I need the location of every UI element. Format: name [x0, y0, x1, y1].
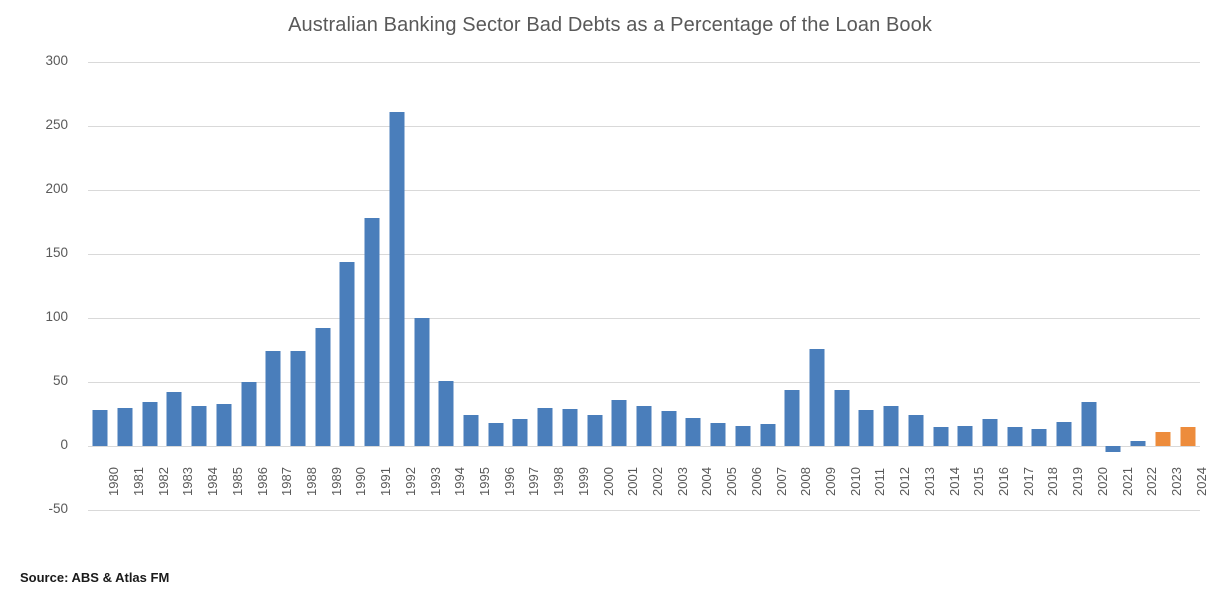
x-tick-label-2021: 2021 [1120, 452, 1135, 496]
bar-1998[interactable] [538, 408, 553, 446]
bar-slot [632, 62, 657, 510]
x-tick-label-2009: 2009 [823, 452, 838, 496]
bar-1993[interactable] [414, 318, 429, 446]
bar-2023[interactable] [1155, 432, 1170, 446]
bar-slot [1175, 62, 1200, 510]
bar-1983[interactable] [167, 392, 182, 446]
x-tick-label-1987: 1987 [279, 452, 294, 496]
bar-2018[interactable] [1032, 429, 1047, 446]
bar-slot [1126, 62, 1151, 510]
x-tick-label-1991: 1991 [378, 452, 393, 496]
gridline--50 [88, 510, 1200, 511]
x-tick-label-1993: 1993 [428, 452, 443, 496]
chart-root: Australian Banking Sector Bad Debts as a… [0, 0, 1220, 596]
y-tick-label-300: 300 [8, 53, 68, 68]
bar-2002[interactable] [636, 406, 651, 446]
bar-2006[interactable] [735, 426, 750, 446]
x-tick-label-2012: 2012 [897, 452, 912, 496]
bar-slot [409, 62, 434, 510]
bar-slot [854, 62, 879, 510]
bar-2019[interactable] [1057, 422, 1072, 446]
x-tick-label-2013: 2013 [922, 452, 937, 496]
x-tick-label-2008: 2008 [798, 452, 813, 496]
y-tick-label--50: -50 [8, 501, 68, 516]
x-tick-label-2005: 2005 [724, 452, 739, 496]
bar-slot [335, 62, 360, 510]
chart-title: Australian Banking Sector Bad Debts as a… [0, 14, 1220, 37]
bar-2001[interactable] [612, 400, 627, 446]
x-tick-label-2015: 2015 [971, 452, 986, 496]
bar-slot [780, 62, 805, 510]
bar-2012[interactable] [884, 406, 899, 446]
x-tick-label-1990: 1990 [353, 452, 368, 496]
bar-slot [212, 62, 237, 510]
x-tick-label-2022: 2022 [1144, 452, 1159, 496]
bar-slot [829, 62, 854, 510]
bar-slot [187, 62, 212, 510]
x-tick-label-1996: 1996 [502, 452, 517, 496]
bar-slot [978, 62, 1003, 510]
x-tick-label-2001: 2001 [625, 452, 640, 496]
x-tick-label-2020: 2020 [1095, 452, 1110, 496]
bar-1996[interactable] [488, 423, 503, 446]
x-tick-label-1999: 1999 [576, 452, 591, 496]
bar-slot [360, 62, 385, 510]
y-tick-label-50: 50 [8, 373, 68, 388]
y-tick-label-0: 0 [8, 437, 68, 452]
y-tick-label-100: 100 [8, 309, 68, 324]
bar-2024[interactable] [1180, 427, 1195, 446]
bar-slot [1052, 62, 1077, 510]
x-tick-label-2011: 2011 [872, 452, 887, 496]
bar-2013[interactable] [908, 415, 923, 446]
bar-slot [607, 62, 632, 510]
bar-slot [137, 62, 162, 510]
bar-2007[interactable] [760, 424, 775, 446]
bar-2016[interactable] [982, 419, 997, 446]
bar-2017[interactable] [1007, 427, 1022, 446]
x-tick-label-2014: 2014 [947, 452, 962, 496]
bar-slot [1101, 62, 1126, 510]
bar-2003[interactable] [661, 411, 676, 446]
bar-slot [582, 62, 607, 510]
bar-2015[interactable] [958, 426, 973, 446]
x-tick-label-2002: 2002 [650, 452, 665, 496]
bar-2010[interactable] [834, 390, 849, 446]
x-tick-label-2017: 2017 [1021, 452, 1036, 496]
bar-slot [656, 62, 681, 510]
bar-1980[interactable] [93, 410, 108, 446]
bar-2014[interactable] [933, 427, 948, 446]
x-tick-label-2016: 2016 [996, 452, 1011, 496]
bar-slot [88, 62, 113, 510]
x-tick-label-1980: 1980 [106, 452, 121, 496]
y-tick-label-150: 150 [8, 245, 68, 260]
bar-slot [483, 62, 508, 510]
bar-slot [681, 62, 706, 510]
bar-1986[interactable] [241, 382, 256, 446]
bar-slot [755, 62, 780, 510]
x-tick-label-1997: 1997 [526, 452, 541, 496]
bar-slot [1151, 62, 1176, 510]
bar-slot [903, 62, 928, 510]
x-tick-label-2006: 2006 [749, 452, 764, 496]
bar-slot [1027, 62, 1052, 510]
bar-slot [310, 62, 335, 510]
bar-2022[interactable] [1131, 441, 1146, 446]
bar-1985[interactable] [216, 404, 231, 446]
x-tick-label-2010: 2010 [848, 452, 863, 496]
bar-slot [1002, 62, 1027, 510]
bar-1992[interactable] [389, 112, 404, 446]
x-tick-label-2019: 2019 [1070, 452, 1085, 496]
bar-1982[interactable] [142, 402, 157, 446]
bar-2000[interactable] [587, 415, 602, 446]
x-tick-label-1994: 1994 [452, 452, 467, 496]
x-axis-tick-labels: 1980198119821983198419851986198719881989… [88, 452, 1200, 500]
bar-1981[interactable] [118, 408, 133, 446]
source-note: Source: ABS & Atlas FM [20, 570, 169, 585]
x-tick-label-1989: 1989 [329, 452, 344, 496]
bar-1987[interactable] [266, 351, 281, 446]
bar-2008[interactable] [785, 390, 800, 446]
x-tick-label-2003: 2003 [675, 452, 690, 496]
x-tick-label-2023: 2023 [1169, 452, 1184, 496]
bar-slot [805, 62, 830, 510]
bar-series [88, 62, 1200, 510]
bar-slot [1076, 62, 1101, 510]
bar-slot [879, 62, 904, 510]
bar-slot [261, 62, 286, 510]
bar-slot [385, 62, 410, 510]
bar-slot [236, 62, 261, 510]
bar-2011[interactable] [859, 410, 874, 446]
bar-1989[interactable] [315, 328, 330, 446]
bar-slot [162, 62, 187, 510]
x-tick-label-1985: 1985 [230, 452, 245, 496]
x-tick-label-1995: 1995 [477, 452, 492, 496]
bar-2005[interactable] [711, 423, 726, 446]
bar-1995[interactable] [464, 415, 479, 446]
x-tick-label-2018: 2018 [1045, 452, 1060, 496]
x-tick-label-1992: 1992 [403, 452, 418, 496]
x-tick-label-2007: 2007 [774, 452, 789, 496]
x-tick-label-1981: 1981 [131, 452, 146, 496]
bar-slot [706, 62, 731, 510]
bar-slot [953, 62, 978, 510]
x-tick-label-2004: 2004 [699, 452, 714, 496]
bar-1990[interactable] [340, 262, 355, 446]
bar-slot [558, 62, 583, 510]
bar-slot [928, 62, 953, 510]
x-tick-label-1988: 1988 [304, 452, 319, 496]
bar-2004[interactable] [686, 418, 701, 446]
bar-slot [434, 62, 459, 510]
y-tick-label-200: 200 [8, 181, 68, 196]
bar-1984[interactable] [192, 406, 207, 446]
x-tick-label-1984: 1984 [205, 452, 220, 496]
bar-1991[interactable] [365, 218, 380, 446]
bar-slot [459, 62, 484, 510]
bar-1999[interactable] [562, 409, 577, 446]
bar-slot [533, 62, 558, 510]
y-tick-label-250: 250 [8, 117, 68, 132]
bar-2020[interactable] [1081, 402, 1096, 446]
bar-slot [113, 62, 138, 510]
bar-slot [508, 62, 533, 510]
x-tick-label-1983: 1983 [180, 452, 195, 496]
x-tick-label-2024: 2024 [1194, 452, 1209, 496]
bar-2009[interactable] [809, 349, 824, 446]
bar-1994[interactable] [439, 381, 454, 446]
x-tick-label-1998: 1998 [551, 452, 566, 496]
x-tick-label-1982: 1982 [156, 452, 171, 496]
bar-slot [730, 62, 755, 510]
bar-1997[interactable] [513, 419, 528, 446]
bar-slot [286, 62, 311, 510]
bar-1988[interactable] [291, 351, 306, 446]
x-tick-label-2000: 2000 [601, 452, 616, 496]
x-tick-label-1986: 1986 [255, 452, 270, 496]
